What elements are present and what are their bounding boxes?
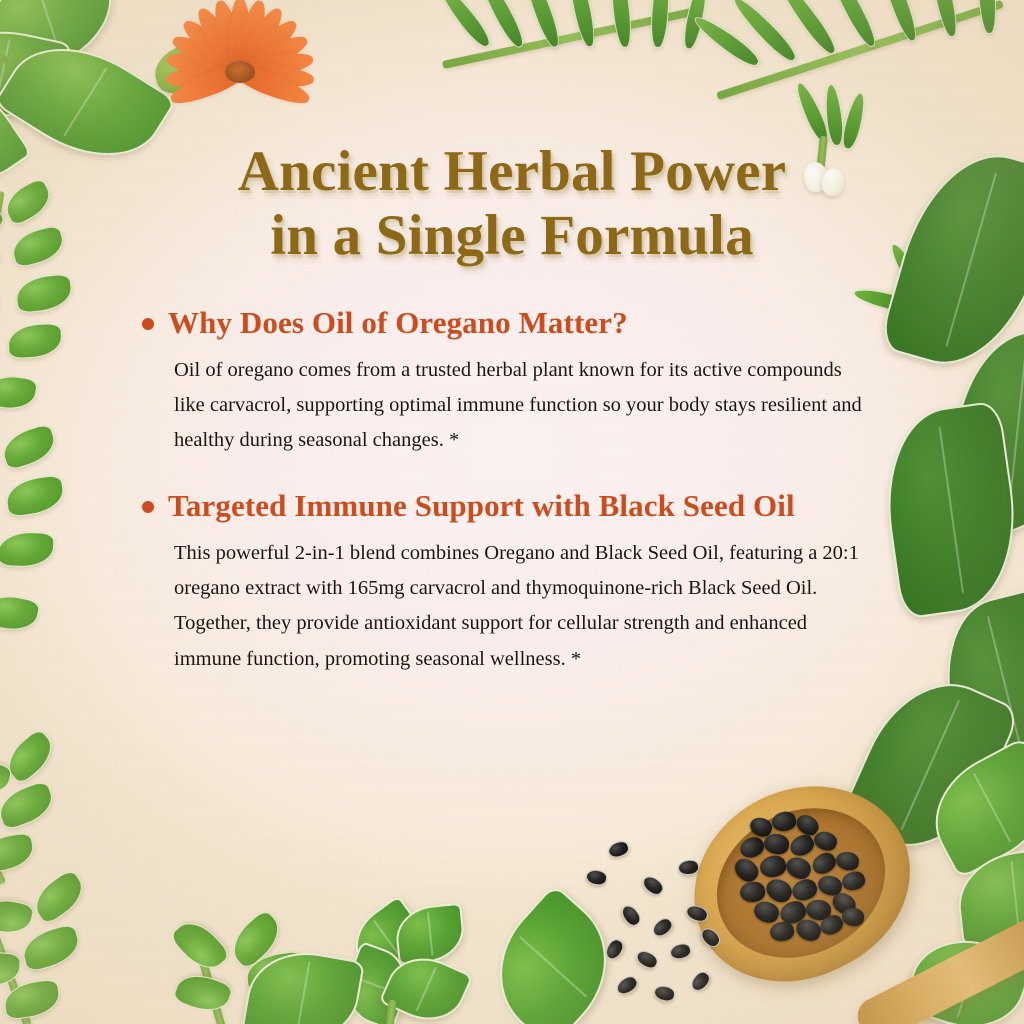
bullet-point-icon: [142, 501, 154, 513]
flower-center: [225, 61, 255, 83]
section-body: This powerful 2-in-1 blend combines Oreg…: [174, 536, 864, 677]
section-oregano: Why Does Oil of Oregano Matter? Oil of o…: [140, 302, 884, 459]
section-heading: Targeted Immune Support with Black Seed …: [168, 485, 795, 526]
section-black-seed: Targeted Immune Support with Black Seed …: [140, 485, 884, 677]
section-heading-row: Targeted Immune Support with Black Seed …: [142, 485, 884, 526]
section-body: Oil of oregano comes from a trusted herb…: [174, 353, 864, 459]
section-heading-row: Why Does Oil of Oregano Matter?: [142, 302, 884, 343]
title-line-2: in a Single Formula: [140, 204, 884, 268]
section-heading: Why Does Oil of Oregano Matter?: [168, 302, 628, 343]
bullet-point-icon: [142, 318, 154, 330]
infographic-canvas: Ancient Herbal Power in a Single Formula…: [0, 0, 1024, 1024]
title-line-1: Ancient Herbal Power: [140, 140, 884, 204]
text-content-area: Ancient Herbal Power in a Single Formula…: [140, 140, 884, 683]
page-title: Ancient Herbal Power in a Single Formula: [140, 140, 884, 268]
